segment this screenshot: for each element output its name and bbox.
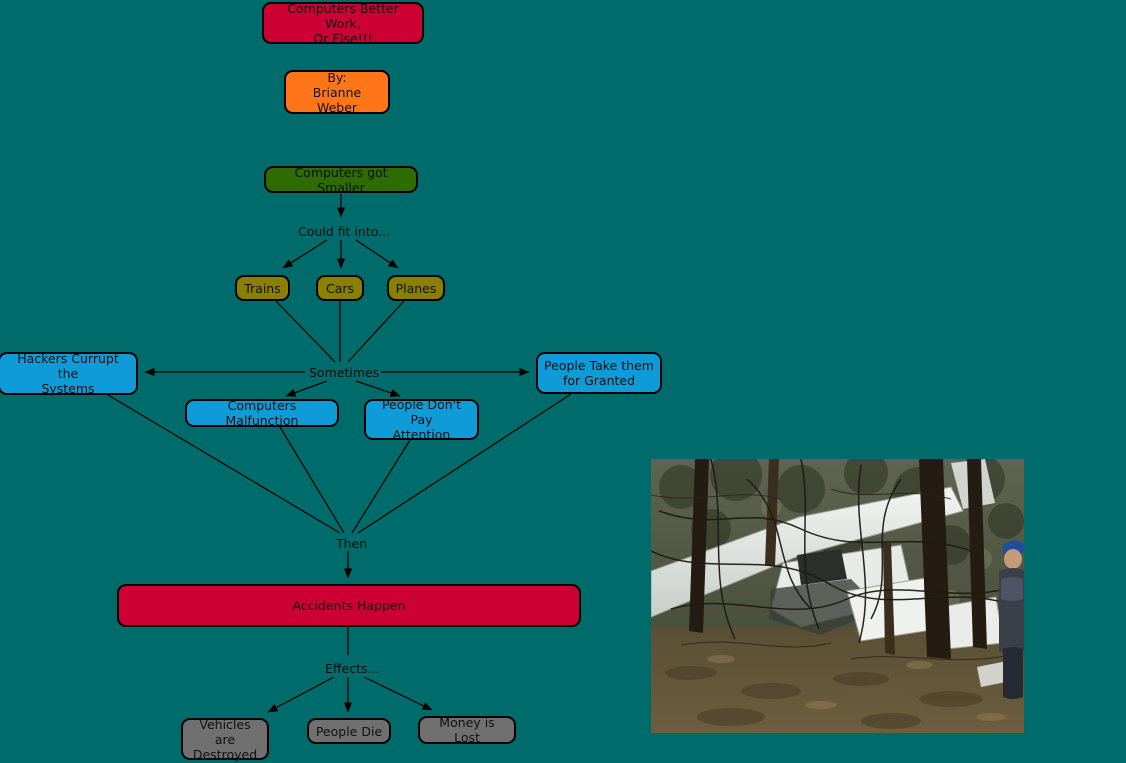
concept-map-canvas: Computers Better Work, Or Else!!! By: Br…	[0, 0, 1126, 763]
edge-couldfit-trains	[283, 240, 327, 268]
edge-effects-money	[364, 677, 432, 710]
edge-couldfit-planes	[356, 240, 398, 268]
node-vehicles-are-destroyed[interactable]: Vehicles are Destroyed	[181, 718, 269, 760]
edge-label-effects: Effects...	[323, 662, 381, 676]
edge-label-then: Then	[334, 537, 369, 551]
edge-sometimes-attention	[356, 381, 400, 396]
plane-crash-photo-graphic	[651, 459, 1024, 733]
edge-sometimes-malfunction	[286, 381, 327, 396]
node-trains[interactable]: Trains	[235, 275, 290, 301]
edge-label-could-fit-into: Could fit into...	[296, 225, 392, 239]
node-computers-got-smaller[interactable]: Computers got Smaller	[264, 166, 418, 193]
node-cars[interactable]: Cars	[316, 275, 364, 301]
edge-planes-sometimes	[348, 301, 404, 362]
edge-label-sometimes: Sometimes	[307, 366, 381, 380]
node-people-die[interactable]: People Die	[307, 718, 391, 744]
edge-attention-then	[352, 440, 410, 533]
node-planes[interactable]: Planes	[387, 275, 445, 301]
edge-trains-sometimes	[276, 301, 335, 362]
node-people-take-them-for-granted[interactable]: People Take them for Granted	[536, 352, 662, 394]
edge-effects-vehicles	[268, 677, 334, 712]
edge-malfunction-then	[280, 427, 344, 533]
node-people-dont-pay-attention[interactable]: People Don't Pay Attention	[364, 399, 479, 440]
node-author[interactable]: By: Brianne Weber	[284, 70, 390, 114]
node-money-is-lost[interactable]: Money is Lost	[418, 716, 516, 744]
node-hackers-corrupt-systems[interactable]: Hackers Currupt the Systems	[0, 352, 138, 395]
node-computers-malfunction[interactable]: Computers Malfunction	[185, 399, 339, 427]
node-accidents-happen[interactable]: Accidents Happen	[117, 584, 581, 627]
plane-crash-photo	[651, 459, 1024, 733]
node-title[interactable]: Computers Better Work, Or Else!!!	[262, 2, 424, 44]
